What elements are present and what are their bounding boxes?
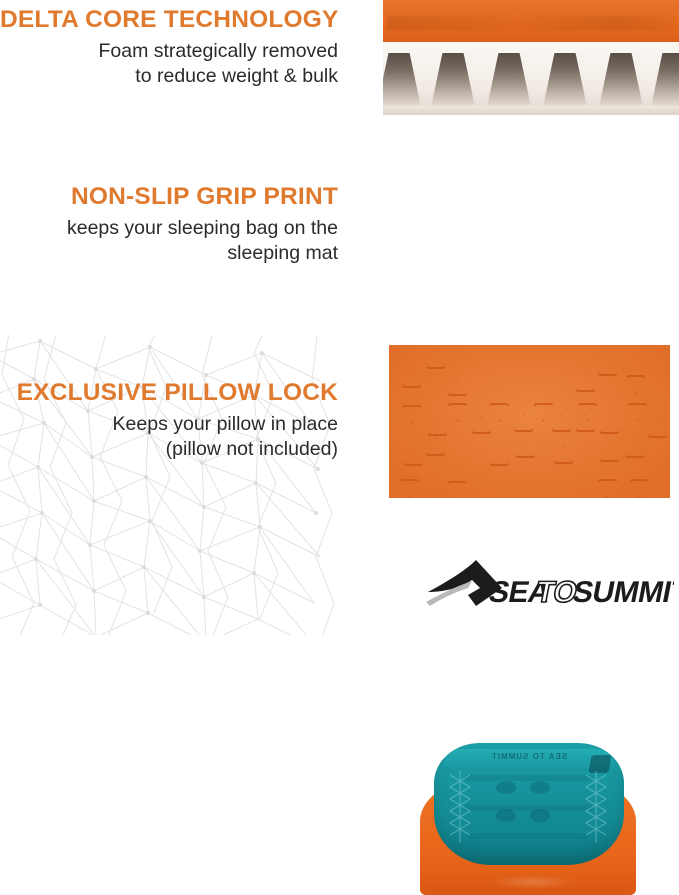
feature-description: Keeps your pillow in place (pillow not i… [0,412,338,461]
feature-description-line: to reduce weight & bulk [0,64,338,89]
feature-description-line: sleeping mat [0,241,338,266]
feature-title: NON-SLIP GRIP PRINT [0,183,338,210]
feature-text-block: DELTA CORE TECHNOLOGY Foam strategically… [0,6,360,89]
feature-description-line: (pillow not included) [0,437,338,462]
pillow-dimple [496,809,516,822]
sea-to-summit-logo: SEA TO SUMMIT SEA TO SUMMIT [424,558,674,618]
feature-title: EXCLUSIVE PILLOW LOCK [0,379,338,406]
mat-base-layer [383,106,679,115]
pillow-baffle [464,775,594,781]
pillow-baffle [468,833,588,839]
feature-description-line: Keeps your pillow in place [0,412,338,437]
pillow-rim-branding: SEA TO SUMMIT [444,752,614,761]
pillow-teal: SEA TO SUMMIT [434,743,624,865]
mat-orange-top-layer [383,0,679,44]
feature-title: DELTA CORE TECHNOLOGY [0,6,338,33]
feature-description: keeps your sleeping bag on the sleeping … [0,216,338,265]
feature-delta-core-technology: DELTA CORE TECHNOLOGY Foam strategically… [0,0,679,160]
feature-exclusive-pillow-lock: EXCLUSIVE PILLOW LOCK Keeps your pillow … [0,365,679,540]
logo-word-summit: SUMMIT [570,576,674,609]
feature-text-block: NON-SLIP GRIP PRINT keeps your sleeping … [0,183,360,266]
pillow-baffle [464,805,594,811]
pillow-dimple [496,781,516,794]
feature-description-line: Foam strategically removed [0,39,338,64]
feature-non-slip-grip-print: NON-SLIP GRIP PRINT keeps your sleeping … [0,165,679,340]
feature-description: Foam strategically removed to reduce wei… [0,39,338,88]
pillow-side-texture [448,771,474,845]
feature-description-line: keeps your sleeping bag on the [0,216,338,241]
pillow-side-texture [584,771,610,845]
delta-core-cross-section-image [383,0,679,115]
pillow-dimple [530,781,550,794]
pillow-lock-image: SEA TO SUMMIT [410,737,646,895]
pillow-dimple [530,809,550,822]
feature-text-block: EXCLUSIVE PILLOW LOCK Keeps your pillow … [0,379,360,462]
